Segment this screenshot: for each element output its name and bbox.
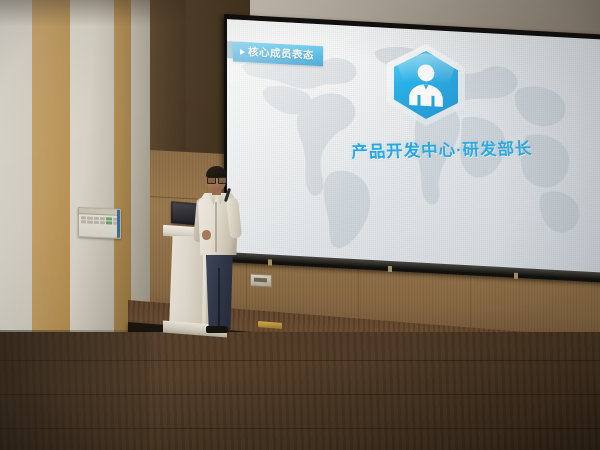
- play-arrow-icon: [240, 48, 245, 54]
- photo-scene: 核心成员表态 产品开发: [0, 0, 600, 450]
- wall-control-cell: [94, 221, 99, 224]
- wall-control-cell: [81, 216, 86, 219]
- presenter-shirt-placket: [215, 202, 217, 252]
- screen-mount-bracket: [388, 266, 392, 272]
- screen-mount-bracket: [268, 259, 272, 265]
- slide-title: 产品开发中心·研发部长: [350, 135, 533, 163]
- wall-control-cell: [94, 217, 99, 220]
- floor-left-shadow: [0, 330, 150, 450]
- eyeglasses-icon: [207, 177, 226, 182]
- slide-tab-banner-label: 核心成员表态: [248, 44, 314, 63]
- wall-panel-cream-1: [0, 0, 32, 352]
- presenter: [196, 168, 244, 333]
- presenter-leg-separation: [218, 268, 220, 326]
- wall-panel-gold-1: [32, 0, 70, 352]
- wall-control-panel-buttons: [79, 214, 120, 227]
- wall-panel-cream-3: [131, 0, 150, 352]
- screen-mount-bracket: [514, 273, 518, 279]
- wall-panel-cream-2: [70, 0, 114, 352]
- wall-outlet-slot: [254, 278, 267, 283]
- presenter-shoe: [206, 326, 228, 333]
- projection-screen[interactable]: 核心成员表态 产品开发: [224, 14, 600, 287]
- user-silhouette-icon: [405, 61, 447, 109]
- person-badge-icon: [387, 42, 465, 128]
- eyeglasses-lens-left: [207, 177, 216, 184]
- wall-control-cell: [87, 220, 92, 223]
- wall-control-cell-active: [106, 217, 111, 220]
- wall-control-cell: [100, 221, 105, 224]
- wall-control-cell: [100, 217, 105, 220]
- presenter-hand: [202, 230, 211, 240]
- projection-screen-surface: 核心成员表态 产品开发: [227, 19, 600, 278]
- eyeglasses-lens-right: [218, 177, 227, 184]
- wall-control-cell-active: [106, 221, 111, 224]
- wall-control-cell: [87, 216, 92, 219]
- wall-control-panel-edge: [117, 210, 120, 238]
- wall-control-panel[interactable]: [78, 207, 121, 239]
- wall-outlet-plate[interactable]: [250, 273, 272, 287]
- wall-control-cell: [81, 220, 86, 223]
